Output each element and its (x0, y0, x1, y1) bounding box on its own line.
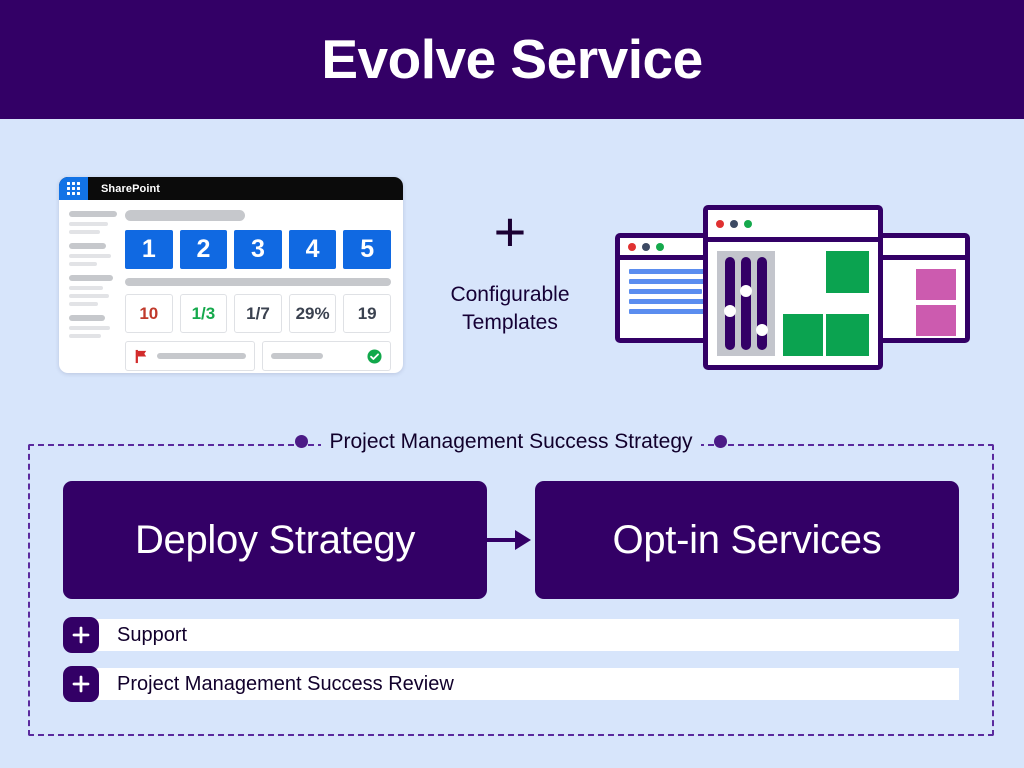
window-dot-gray (642, 243, 650, 251)
strategy-cards: Deploy Strategy Opt-in Services (30, 446, 992, 599)
accordion-list: Support Project Management Success Revie… (30, 599, 992, 702)
plus-icon[interactable] (63, 666, 99, 702)
row-placeholder-line (271, 353, 323, 359)
arrow-container (487, 526, 535, 554)
metric-card[interactable]: 19 (343, 294, 391, 333)
strategy-section: Project Management Success Strategy Depl… (28, 444, 994, 736)
green-block (826, 251, 869, 293)
optin-services-card[interactable]: Opt-in Services (535, 481, 959, 599)
green-blocks-group (783, 251, 869, 356)
deploy-strategy-card[interactable]: Deploy Strategy (63, 481, 487, 599)
page-title: Evolve Service (321, 32, 702, 87)
number-tiles: 1 2 3 4 5 (125, 230, 391, 269)
strategy-label-group: Project Management Success Strategy (30, 430, 992, 453)
slider-control[interactable] (757, 257, 767, 350)
pink-block (916, 305, 956, 336)
red-flag-icon (134, 349, 149, 364)
metric-card[interactable]: 10 (125, 294, 173, 333)
sharepoint-topbar: SharePoint (59, 177, 403, 200)
sharepoint-content: 1 2 3 4 5 10 1/3 1/7 29% 19 (125, 200, 403, 373)
plus-icon[interactable] (63, 617, 99, 653)
strategy-label: Project Management Success Strategy (321, 430, 700, 453)
window-dot-red (628, 243, 636, 251)
slider-control[interactable] (741, 257, 751, 350)
waffle-grid-icon[interactable] (59, 177, 88, 200)
accordion-item-support[interactable]: Support (63, 617, 959, 653)
sharepoint-mockup: SharePoint 1 2 3 4 5 10 (59, 177, 403, 373)
caption-line-1: Configurable (450, 281, 569, 309)
section-divider-placeholder (125, 278, 391, 286)
plus-sign-icon: + (494, 210, 527, 255)
sharepoint-brand-label: SharePoint (88, 177, 160, 200)
label-dot-right (714, 435, 727, 448)
window-dot-red (716, 220, 724, 228)
number-tile[interactable]: 5 (343, 230, 391, 269)
green-block (826, 314, 869, 356)
window-content (708, 242, 878, 365)
slider-panel (717, 251, 775, 356)
table-row[interactable] (125, 341, 255, 371)
caption-line-2: Templates (450, 309, 569, 337)
window-dot-gray (730, 220, 738, 228)
accordion-label: Support (95, 619, 959, 651)
metric-card[interactable]: 1/3 (180, 294, 228, 333)
sharepoint-sidebar (59, 200, 125, 373)
configurable-templates-connector: + Configurable Templates (412, 210, 608, 337)
metric-card[interactable]: 1/7 (234, 294, 282, 333)
accordion-label: Project Management Success Review (95, 668, 959, 700)
template-windows-illustration (615, 205, 970, 370)
status-rows (125, 341, 391, 371)
green-check-icon (367, 349, 382, 364)
window-dot-green (656, 243, 664, 251)
window-dot-green (744, 220, 752, 228)
page-header: Evolve Service (0, 0, 1024, 119)
label-dot-left (295, 435, 308, 448)
content-title-placeholder (125, 210, 245, 221)
metric-cards: 10 1/3 1/7 29% 19 (125, 294, 391, 333)
table-row[interactable] (262, 341, 392, 371)
pink-block (916, 269, 956, 300)
accordion-item-review[interactable]: Project Management Success Review (63, 666, 959, 702)
template-window-center (703, 205, 883, 370)
arrow-right-icon (487, 526, 535, 554)
window-titlebar (708, 210, 878, 242)
slide-canvas: Evolve Service SharePoint 1 2 (0, 0, 1024, 768)
slider-control[interactable] (725, 257, 735, 350)
green-block (783, 314, 823, 356)
number-tile[interactable]: 2 (180, 230, 228, 269)
number-tile[interactable]: 3 (234, 230, 282, 269)
row-placeholder-line (157, 353, 246, 359)
connector-caption: Configurable Templates (450, 281, 569, 338)
number-tile[interactable]: 4 (289, 230, 337, 269)
slider-knob[interactable] (756, 324, 768, 336)
number-tile[interactable]: 1 (125, 230, 173, 269)
metric-card[interactable]: 29% (289, 294, 337, 333)
sharepoint-body: 1 2 3 4 5 10 1/3 1/7 29% 19 (59, 200, 403, 373)
slider-knob[interactable] (740, 285, 752, 297)
